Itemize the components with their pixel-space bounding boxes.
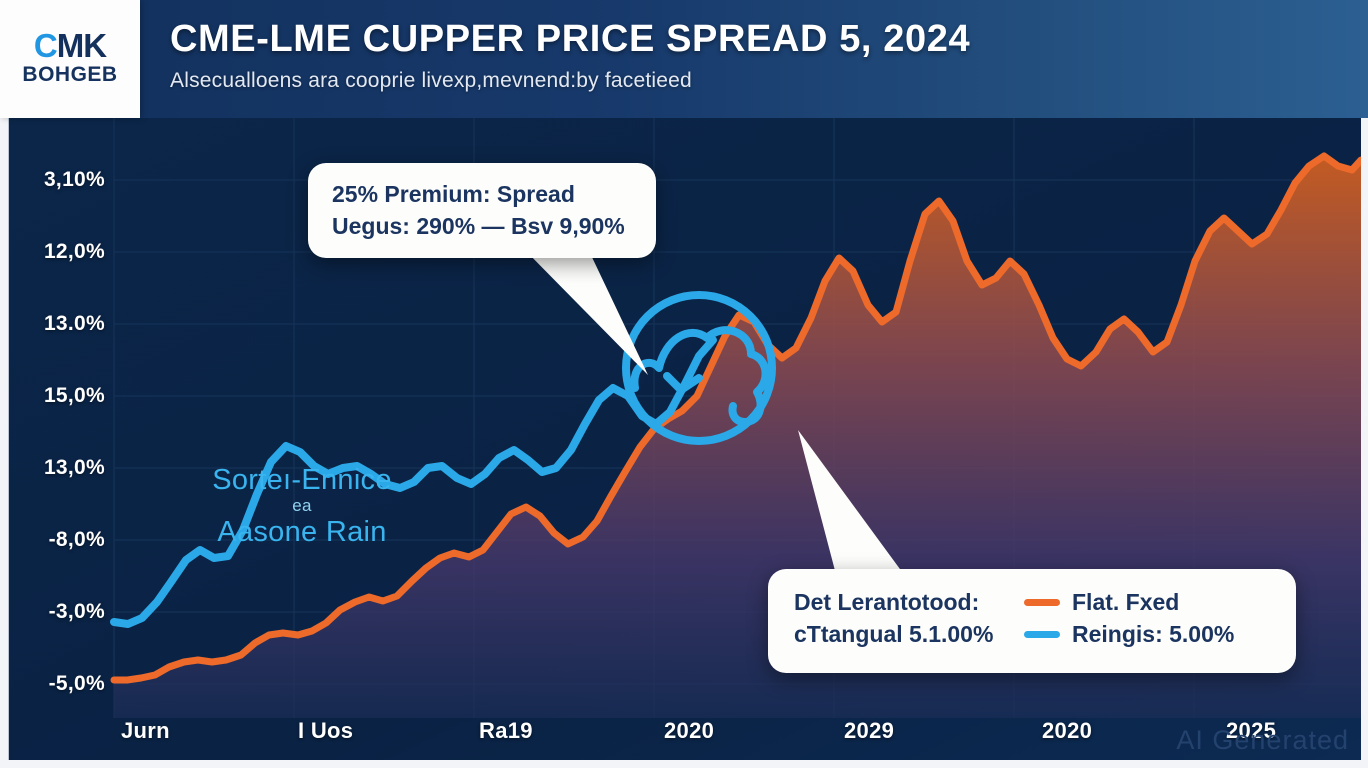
legend-label-orange: Flat. Fxed [1072, 587, 1179, 619]
logo-wordmark-primary: CMK [34, 29, 106, 62]
x-tick-label-5: 2020 [1042, 718, 1092, 744]
y-tick-label-1: 12,0% [9, 240, 105, 264]
logo-letters-mk: MK [57, 27, 106, 64]
y-tick-label-7: -5,0% [9, 672, 105, 696]
logo-wordmark-secondary: BOHGEB [22, 62, 117, 88]
logo-letter-c: C [34, 27, 57, 64]
callout-1-pointer [520, 245, 660, 380]
y-tick-label-4: 13,0% [9, 456, 105, 480]
y-tick-label-3: 15,0% [9, 384, 105, 408]
chart-header: CME-LME CUPPER PRICE SPREAD 5, 2024 Alse… [0, 0, 1368, 118]
legend-row-orange: Det Lerantotood: Flat. Fxed [794, 587, 1296, 619]
x-tick-label-3: 2020 [664, 718, 714, 744]
ai-generated-watermark: AI Generated [1176, 725, 1349, 756]
legend-label-blue: Reingis: 5.00% [1072, 619, 1234, 651]
inline-series-caption: Sorteı-Ennice ea Aasone Rain [177, 464, 427, 548]
page-title: CME-LME CUPPER PRICE SPREAD 5, 2024 [170, 20, 1290, 60]
legend-swatch-orange-icon [1024, 599, 1060, 606]
callout-2-label-line-2: cTtangual 5.1.00% [794, 619, 1024, 651]
y-tick-label-2: 13.0% [9, 312, 105, 336]
legend-row-blue: cTtangual 5.1.00% Reingis: 5.00% [794, 619, 1296, 651]
inline-caption-line1: Sorteı-Ennice [212, 464, 392, 496]
inline-caption-line3: Aasone Rain [217, 516, 386, 548]
page-subtitle: Alsecualloens ara cooprie livexp,mevnend… [170, 69, 1290, 93]
brand-logo: CMK BOHGEB [0, 0, 140, 118]
callout-1-line-2: Uegus: 290% — Bsv 9,90% [332, 211, 636, 243]
x-tick-label-1: I Uos [298, 718, 353, 744]
chart-image-root: CME-LME CUPPER PRICE SPREAD 5, 2024 Alse… [0, 0, 1368, 768]
y-tick-label-6: -3,0% [9, 600, 105, 624]
x-tick-label-4: 2029 [844, 718, 894, 744]
callout-2-pointer [790, 430, 930, 590]
inline-caption-line2: ea [177, 496, 427, 515]
legend-swatch-blue-icon [1024, 631, 1060, 638]
x-tick-label-0: Jurn [121, 718, 170, 744]
callout-premium-spread[interactable]: 25% Premium: Spread Uegus: 290% — Bsv 9,… [308, 163, 656, 258]
y-tick-label-0: 3,10% [9, 168, 105, 192]
callout-2-label-line-1: Det Lerantotood: [794, 587, 1024, 619]
callout-1-line-1: 25% Premium: Spread [332, 179, 636, 211]
callout-legend-box[interactable]: Det Lerantotood: Flat. Fxed cTtangual 5.… [768, 569, 1296, 673]
x-tick-label-2: Ra19 [479, 718, 533, 744]
y-tick-label-5: -8,0% [9, 528, 105, 552]
header-text-block: CME-LME CUPPER PRICE SPREAD 5, 2024 Alse… [170, 20, 1290, 93]
